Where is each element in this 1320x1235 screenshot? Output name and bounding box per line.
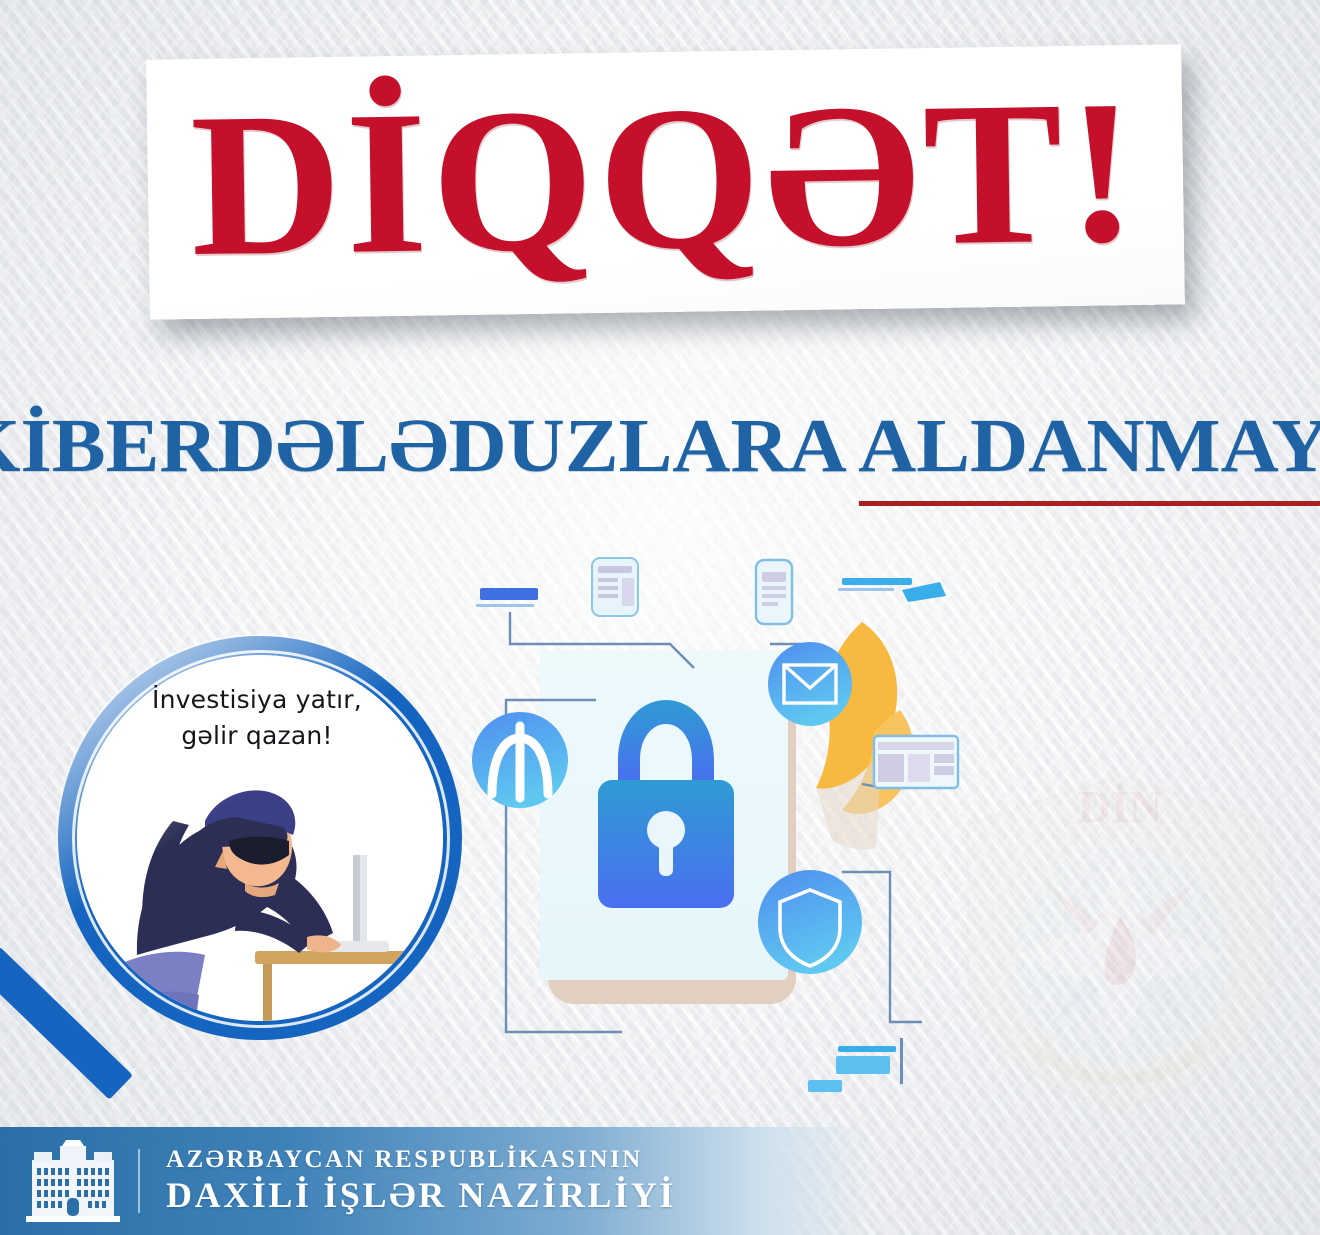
ministry-name-line-2: DAXİLİ İŞLƏR NAZİRLİYİ	[166, 1175, 676, 1215]
din-watermark-emblem: DİN	[940, 760, 1300, 1120]
headline-container: KİBERDƏLƏDUZLARA ALDANMAYIN!	[0, 408, 1320, 484]
page-title: DİQQƏT!	[189, 80, 1141, 279]
headline-segment-underlined: ALDANMAYIN!	[858, 404, 1320, 488]
security-graphic-svg	[470, 552, 990, 1112]
manat-currency-icon	[472, 712, 568, 808]
scam-caption-line-1: İnvestisiya yatır,	[22, 682, 492, 718]
attention-banner: DİQQƏT!	[146, 44, 1185, 319]
ministry-building-icon	[22, 1138, 124, 1224]
shield-icon	[758, 870, 862, 974]
footer-divider	[138, 1149, 140, 1213]
envelope-icon	[768, 642, 852, 726]
magnifier-illustration: İnvestisiya yatır, gəlir qazan!	[22, 610, 492, 1110]
ministry-footer: AZƏRBAYCAN RESPUBLİKASININ DAXİLİ İŞLƏR …	[0, 1127, 1320, 1235]
security-graphic	[470, 552, 990, 1112]
watermark-svg: DİN	[940, 760, 1300, 1120]
ministry-name: AZƏRBAYCAN RESPUBLİKASININ DAXİLİ İŞLƏR …	[166, 1146, 676, 1215]
watermark-label: DİN	[1078, 781, 1162, 832]
mobile-phone-icon	[756, 560, 792, 624]
poster-root: DİN DİQQƏT! KİBERDƏLƏDUZLARA ALDANMAYIN!	[0, 0, 1320, 1235]
scam-promise-caption: İnvestisiya yatır, gəlir qazan!	[22, 682, 492, 753]
browser-window-icon	[874, 736, 958, 788]
headline-segment-primary: KİBERDƏLƏDUZLARA	[0, 404, 858, 488]
headline: KİBERDƏLƏDUZLARA ALDANMAYIN!	[0, 408, 1320, 484]
ministry-name-line-1: AZƏRBAYCAN RESPUBLİKASININ	[166, 1146, 676, 1175]
scam-caption-line-2: gəlir qazan!	[22, 718, 492, 754]
document-icon	[592, 558, 638, 616]
